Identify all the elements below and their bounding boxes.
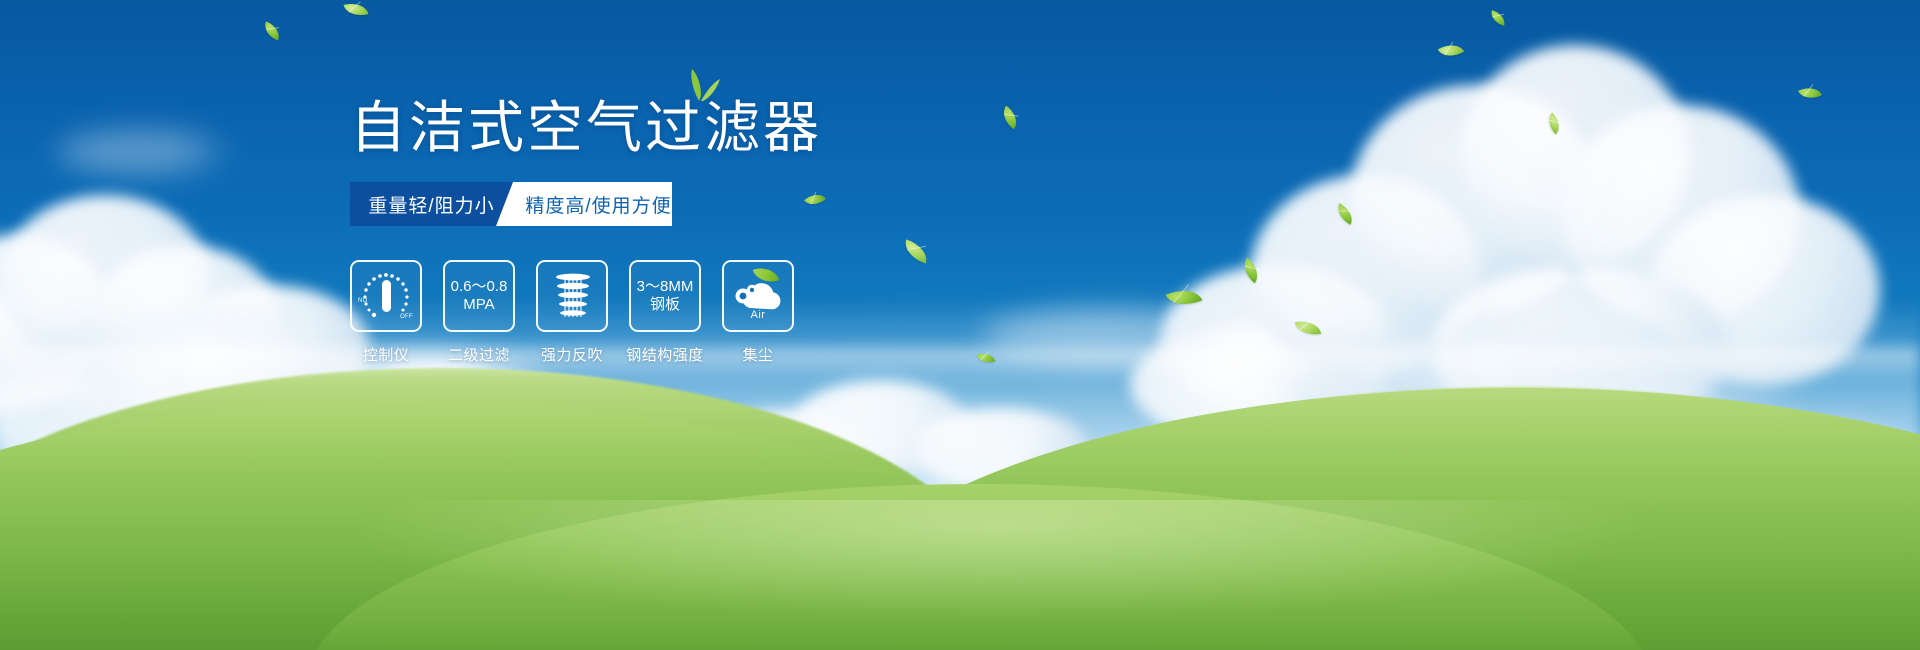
feature-icon-box xyxy=(536,260,608,332)
feature-list: NO OFF 控制仪 0.6～0.8 MPA 二级过滤 xyxy=(350,260,910,365)
feature-icon-box: 3～8MM 钢板 xyxy=(629,260,701,332)
feature-item-filtration: 0.6～0.8 MPA 二级过滤 xyxy=(443,260,515,365)
tagline-secondary-text: 精度高/使用方便 xyxy=(525,191,671,218)
feature-label: 控制仪 xyxy=(363,344,410,365)
cloud-wisp-top-left xyxy=(55,120,235,180)
feature-item-controller: NO OFF 控制仪 xyxy=(350,260,422,365)
gauge-off-label: OFF xyxy=(400,314,413,320)
gauge-needle xyxy=(382,280,391,312)
grass-ground xyxy=(0,350,1920,650)
feature-item-dust: Air 集尘 xyxy=(722,260,794,365)
hero-banner: 自洁式空气过滤器 重量轻/阻力小 精度高/使用方便 xyxy=(0,0,1920,650)
feature-icon-box: Air xyxy=(722,260,794,332)
feature-label: 强力反吹 xyxy=(541,344,603,365)
feature-icon-box: 0.6～0.8 MPA xyxy=(443,260,515,332)
page-title: 自洁式空气过滤器 xyxy=(350,100,910,156)
pressure-unit: MPA xyxy=(451,296,508,314)
pressure-text-icon: 0.6～0.8 MPA xyxy=(451,278,508,315)
gauge-no-label: NO xyxy=(358,298,368,304)
steel-plate-text-icon: 3～8MM 钢板 xyxy=(637,278,694,315)
feature-item-steel: 3～8MM 钢板 钢结构强度 xyxy=(629,260,701,365)
gauge-icon: NO OFF xyxy=(358,271,414,321)
feature-label: 集尘 xyxy=(742,344,773,365)
tagline-badge-secondary: 精度高/使用方便 xyxy=(513,182,672,226)
steel-thickness: 3～8MM xyxy=(637,278,694,295)
feature-label: 钢结构强度 xyxy=(626,344,704,365)
feature-label: 二级过滤 xyxy=(448,344,510,365)
tagline-badge-primary: 重量轻/阻力小 xyxy=(350,182,513,226)
cloud-air-icon: Air xyxy=(730,272,786,320)
banner-content: 自洁式空气过滤器 重量轻/阻力小 精度高/使用方便 xyxy=(350,100,910,365)
pressure-range: 0.6～0.8 xyxy=(451,278,508,295)
grass-horizon-glow xyxy=(0,348,1920,382)
grass-highlight xyxy=(0,500,1920,650)
coil-blowback-icon xyxy=(550,271,594,321)
tagline-badges: 重量轻/阻力小 精度高/使用方便 xyxy=(350,182,672,226)
title-row: 自洁式空气过滤器 xyxy=(350,100,910,156)
air-label: Air xyxy=(730,309,786,321)
tagline-primary-text: 重量轻/阻力小 xyxy=(368,191,494,218)
steel-material: 钢板 xyxy=(637,296,694,314)
title-leaf-icon xyxy=(680,68,720,102)
feature-item-blowback: 强力反吹 xyxy=(536,260,608,365)
feature-icon-box: NO OFF xyxy=(350,260,422,332)
